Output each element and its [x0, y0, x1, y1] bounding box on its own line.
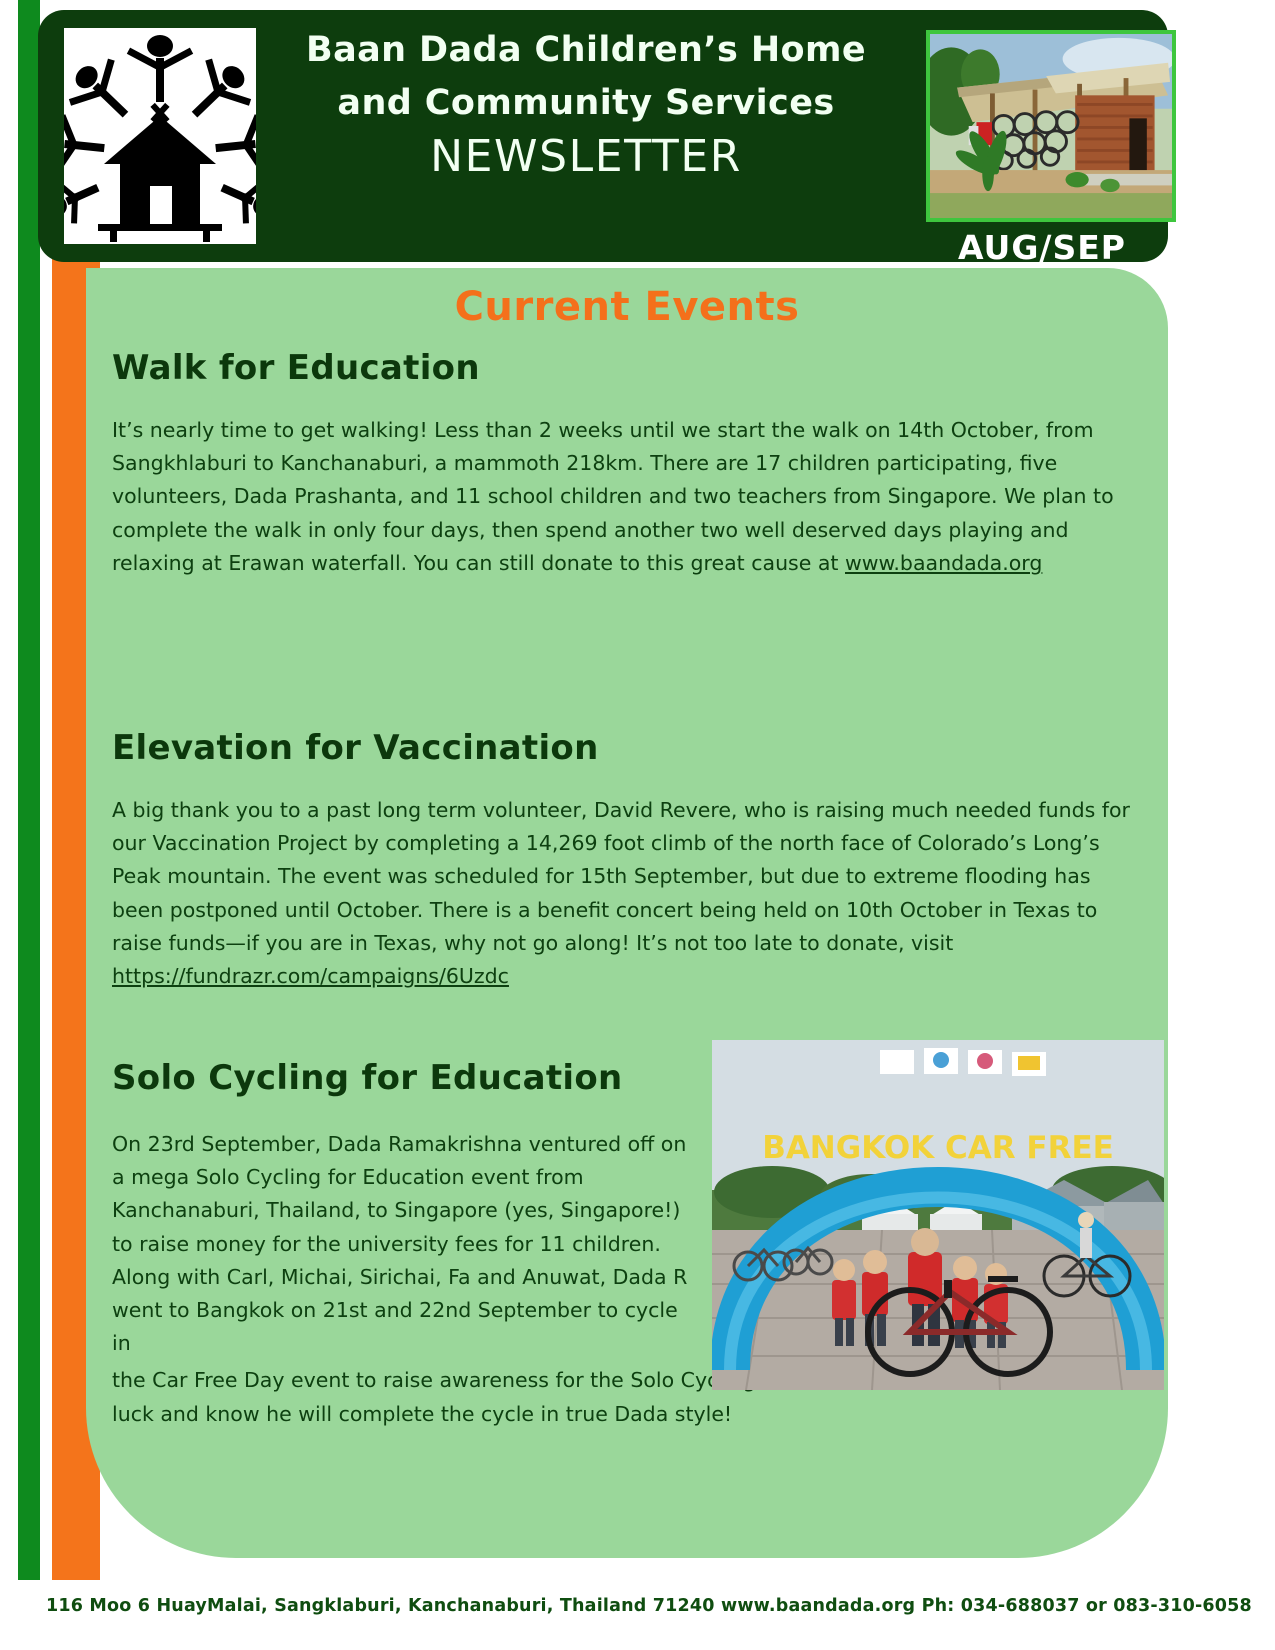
header-title-block: Baan Dada Children’s Home and Community … — [266, 24, 906, 184]
cyclists-under-arch-photo: BANGKOK CAR FREE — [712, 1040, 1164, 1390]
article-elevation-for-vaccination: Elevation for Vaccination A big thank yo… — [112, 728, 1142, 993]
newsletter-body-panel: Current Events Walk for Education It’s n… — [86, 268, 1168, 1558]
link-fundrazr-campaign[interactable]: https://fundrazr.com/campaigns/6Uzdc — [112, 964, 509, 988]
article-body-column: On 23rd September, Dada Ramakrishna vent… — [112, 1128, 694, 1360]
children-around-house-icon — [64, 28, 256, 244]
newsletter-header: Baan Dada Children’s Home and Community … — [38, 10, 1168, 262]
article-body: A big thank you to a past long term volu… — [112, 794, 1142, 993]
link-baandada-org[interactable]: www.baandada.org — [845, 551, 1042, 575]
svg-text:BANGKOK CAR FREE: BANGKOK CAR FREE — [762, 1130, 1114, 1166]
header-title-newsletter: NEWSLETTER — [266, 130, 906, 184]
header-photo-building — [926, 30, 1176, 222]
article-body-wrapped: On 23rd September, Dada Ramakrishna vent… — [112, 1128, 694, 1360]
left-green-accent-bar — [18, 0, 40, 1580]
header-title-line-1: Baan Dada Children’s Home — [266, 24, 906, 77]
article-solo-cycling-for-education: Solo Cycling for Education — [112, 1058, 1142, 1431]
article-walk-for-education: Walk for Education It’s nearly time to g… — [112, 348, 1142, 580]
article-heading: Elevation for Vaccination — [112, 728, 1142, 768]
article-heading: Walk for Education — [112, 348, 1142, 388]
photo-bangkok-car-free-day: BANGKOK CAR FREE — [712, 1040, 1164, 1390]
article-body: It’s nearly time to get walking! Less th… — [112, 414, 1142, 580]
organization-logo — [64, 28, 256, 244]
footer-contact-line: 116 Moo 6 HuayMalai, Sangklaburi, Kancha… — [46, 1596, 1246, 1616]
article-body-text: A big thank you to a past long term volu… — [112, 798, 1130, 955]
section-title-current-events: Current Events — [86, 284, 1168, 330]
building-construction-photo — [930, 34, 1172, 218]
header-title-line-2: and Community Services — [266, 77, 906, 130]
